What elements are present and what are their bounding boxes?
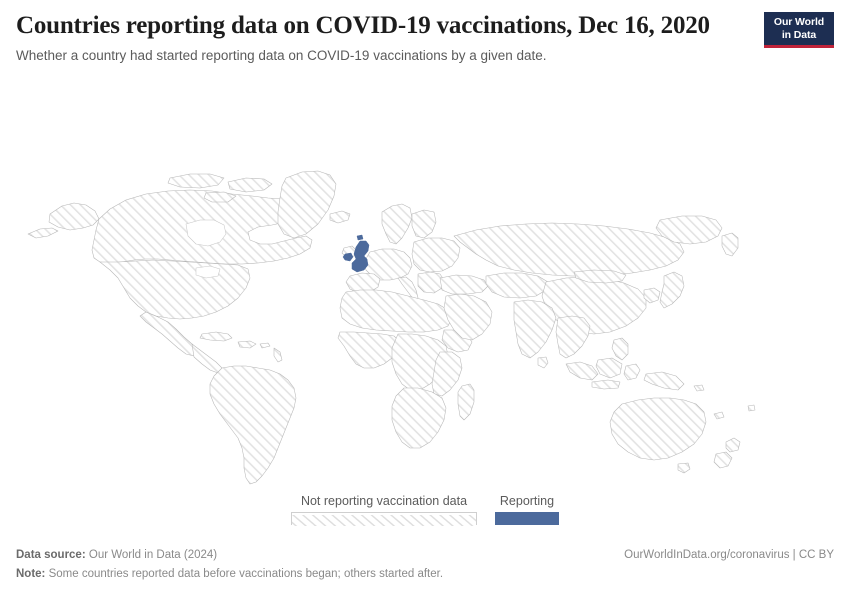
country-north-africa[interactable] xyxy=(340,290,452,332)
country-australia[interactable] xyxy=(610,398,706,460)
chart-footer: Data source: Our World in Data (2024) Ou… xyxy=(16,547,834,584)
world-map-svg[interactable] xyxy=(0,86,850,486)
country-tasmania[interactable] xyxy=(678,463,690,473)
legend-label-reporting: Reporting xyxy=(500,494,554,508)
country-indochina[interactable] xyxy=(556,316,590,358)
country-fiji[interactable] xyxy=(748,405,755,411)
country-west-africa[interactable] xyxy=(338,332,400,368)
country-madagascar[interactable] xyxy=(458,384,474,420)
country-balkans[interactable] xyxy=(418,272,444,293)
map-countries-reporting[interactable] xyxy=(343,235,369,272)
data-source-label: Data source: xyxy=(16,549,86,561)
country-puerto-rico[interactable] xyxy=(260,343,270,348)
country-lesser-antilles[interactable] xyxy=(274,348,282,362)
country-new-zealand-north[interactable] xyxy=(726,438,740,452)
country-papua-new-guinea[interactable] xyxy=(644,372,684,390)
country-east-africa[interactable] xyxy=(432,352,462,396)
chart-note-value: Some countries reported data before vacc… xyxy=(49,568,443,580)
country-hispaniola[interactable] xyxy=(238,341,256,348)
owid-map-chart: Countries reporting data on COVID-19 vac… xyxy=(0,0,850,600)
footer-link[interactable]: OurWorldInData.org/coronavirus | CC BY xyxy=(624,547,834,565)
country-solomon-islands[interactable] xyxy=(694,385,704,391)
country-mexico[interactable] xyxy=(140,312,198,356)
country-india[interactable] xyxy=(514,300,556,358)
chart-note-label: Note: xyxy=(16,568,45,580)
owid-logo-line1: Our World xyxy=(774,16,824,28)
country-kamchatka[interactable] xyxy=(722,233,738,256)
country-central-america[interactable] xyxy=(192,344,222,373)
country-scandinavia[interactable] xyxy=(382,204,412,244)
chart-note: Note: Some countries reported data befor… xyxy=(16,566,834,584)
country-sri-lanka[interactable] xyxy=(538,357,548,368)
country-alaska[interactable] xyxy=(49,203,99,230)
legend-swatch-not-reporting[interactable] xyxy=(291,512,477,525)
country-new-zealand-south[interactable] xyxy=(714,452,732,468)
data-source: Data source: Our World in Data (2024) xyxy=(16,547,217,565)
country-indonesia-borneo[interactable] xyxy=(596,358,622,378)
country-indonesia-sumatra[interactable] xyxy=(566,362,598,380)
country-canada-arctic-1[interactable] xyxy=(168,174,224,188)
country-finland-baltics[interactable] xyxy=(412,210,436,238)
legend-item-not-reporting[interactable]: Not reporting vaccination data xyxy=(291,494,477,525)
country-cuba[interactable] xyxy=(200,332,232,341)
country-philippines[interactable] xyxy=(612,338,628,360)
country-sulawesi[interactable] xyxy=(624,364,640,380)
country-scotland-isles[interactable] xyxy=(357,235,363,240)
country-usa[interactable] xyxy=(100,260,250,319)
country-turkey-caucasus[interactable] xyxy=(440,275,488,294)
great-lakes xyxy=(196,266,220,278)
world-map[interactable] xyxy=(0,86,850,486)
country-japan[interactable] xyxy=(660,272,684,308)
country-iceland[interactable] xyxy=(330,211,350,223)
country-greenland[interactable] xyxy=(278,171,336,238)
country-russia[interactable] xyxy=(454,223,684,276)
country-indonesia-java[interactable] xyxy=(592,380,620,389)
owid-logo[interactable]: Our World in Data xyxy=(764,12,834,48)
legend-swatch-reporting[interactable] xyxy=(495,512,559,525)
chart-subtitle: Whether a country had started reporting … xyxy=(16,47,834,65)
owid-logo-line2: in Data xyxy=(782,29,816,41)
country-korea-japan-1[interactable] xyxy=(644,288,660,303)
chart-header: Countries reporting data on COVID-19 vac… xyxy=(16,12,834,65)
country-canada-arctic-2[interactable] xyxy=(228,178,272,192)
country-southern-africa[interactable] xyxy=(392,388,446,448)
data-source-value: Our World in Data (2024) xyxy=(89,549,217,561)
country-central-asia[interactable] xyxy=(486,273,548,298)
country-south-america[interactable] xyxy=(210,366,296,484)
map-countries-not-reporting[interactable] xyxy=(28,171,755,484)
country-aleutians[interactable] xyxy=(28,228,58,238)
legend-label-not-reporting: Not reporting vaccination data xyxy=(301,494,467,508)
map-legend: Not reporting vaccination data Reporting xyxy=(0,494,850,525)
country-new-caledonia[interactable] xyxy=(714,412,724,419)
page-title: Countries reporting data on COVID-19 vac… xyxy=(16,12,834,40)
country-eastern-europe[interactable] xyxy=(412,238,460,272)
legend-item-reporting[interactable]: Reporting xyxy=(495,494,559,525)
